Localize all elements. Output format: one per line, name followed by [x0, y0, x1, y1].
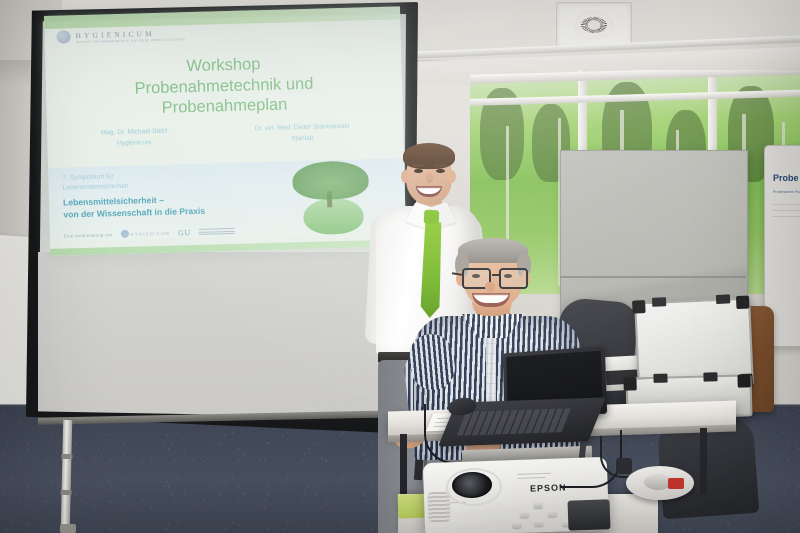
screen-lower-blank — [38, 252, 406, 418]
hygienicum-logo: HYGIENICUM INSTITUT FÜR MIKROBIOLOGIE & … — [56, 26, 206, 47]
presenter2-nose — [485, 282, 495, 292]
organizer-logo-2-text: GU — [178, 228, 191, 237]
symposium-line-2: Lebensmittelsicherheit — [63, 181, 129, 192]
poster-title: Probe — [773, 173, 799, 183]
table-leg — [700, 428, 707, 494]
author-1: Mag. Dr. Michael Stebl Hygienicum — [101, 126, 168, 150]
logo-dot-icon — [56, 30, 70, 43]
eyeglasses-lens-right — [499, 268, 528, 289]
author-1-org: Hygienicum — [101, 137, 168, 150]
projector-front-panel — [567, 499, 610, 530]
presenter1-ear-right — [448, 170, 456, 183]
organizer-logo-1-text: HYGIENICUM — [130, 230, 170, 236]
presenter1-brow-right — [434, 164, 447, 167]
presenter1-eye-right — [436, 169, 445, 173]
organizer-logo-2-lines — [199, 227, 235, 237]
presenter1-tie-knot — [424, 210, 440, 225]
projector-vent — [427, 492, 450, 523]
projected-slide: HYGIENICUM INSTITUT FÜR MIKROBIOLOGIE & … — [44, 6, 406, 256]
cable-reel-plug — [616, 458, 632, 474]
event-headline: Lebensmittelsicherheit – von der Wissens… — [63, 194, 205, 221]
laptop-keyboard[interactable] — [456, 408, 571, 436]
organizer-logo-dot-icon — [120, 230, 128, 238]
presenter1-ear-left — [401, 170, 409, 183]
ceiling-vent-icon — [556, 2, 632, 48]
author-1-name: Mag. Dr. Michael Stebl — [101, 126, 168, 139]
screen-tripod-foot — [60, 524, 76, 533]
symposium-label: 7. Symposium für Lebensmittelsicherheit — [62, 172, 128, 193]
photo-scene: Probe Probenahme Pro HYGIENICUM INSTITUT… — [0, 0, 800, 533]
cable-reel-socket — [668, 478, 684, 489]
slide-authors: Mag. Dr. Michael Stebl Hygienicum Dr. ve… — [47, 119, 403, 151]
tree-crown — [292, 160, 369, 200]
table-leg — [400, 434, 407, 496]
slide-title: Workshop Probenahmetechnik und Probenahm… — [45, 50, 403, 121]
presenter1-eye-left — [414, 169, 423, 173]
presenter1-nose — [426, 173, 433, 183]
organizer-label: Eine Veranstaltung von — [64, 232, 113, 238]
projector-control-pad[interactable] — [512, 501, 575, 531]
eyeglasses-bridge — [492, 274, 500, 276]
vent-hub — [588, 20, 601, 30]
organizer-logo-1: HYGIENICUM — [120, 229, 170, 238]
presenter1-brow-left — [412, 164, 425, 167]
author-2: Dr. vet. Med. Dieter Stanislawski Stanla… — [254, 121, 349, 146]
poster-subtitle: Probenahme Pro — [773, 190, 800, 194]
presenter1-hair — [403, 143, 455, 169]
